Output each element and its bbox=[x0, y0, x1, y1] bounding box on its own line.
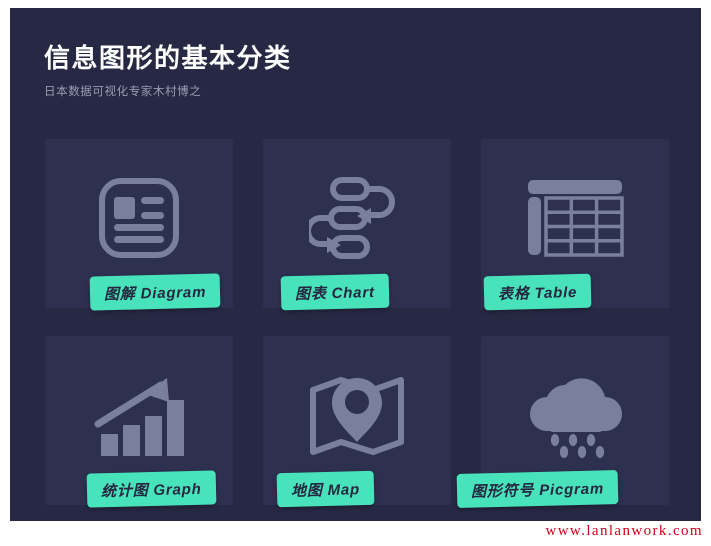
card-label-text: 图表 Chart bbox=[295, 281, 375, 304]
flowchart-icon bbox=[263, 163, 451, 273]
card-label-banner: 图解 Diagram bbox=[90, 273, 221, 310]
map-pin-icon bbox=[263, 360, 451, 470]
category-card-grid: 图解 Diagram bbox=[45, 139, 670, 505]
category-card-table[interactable]: 表格 Table bbox=[481, 139, 669, 308]
category-card-picgram[interactable]: 图形符号 Picgram bbox=[481, 336, 669, 505]
watermark-url: www.lanlanwork.com bbox=[545, 523, 703, 540]
card-label-banner: 统计图 Graph bbox=[87, 470, 216, 507]
page-title: 信息图形的基本分类 bbox=[44, 44, 604, 74]
watermark-strip: www.lanlanwork.com bbox=[0, 521, 711, 546]
card-label-banner: 地图 Map bbox=[277, 471, 375, 507]
diagram-layout-icon bbox=[45, 163, 233, 273]
slide-header: 信息图形的基本分类 日本数据可视化专家木村博之 bbox=[44, 44, 604, 99]
card-label-text: 地图 Map bbox=[291, 478, 360, 501]
card-label-text: 统计图 Graph bbox=[101, 477, 202, 500]
table-grid-icon bbox=[481, 163, 669, 273]
page-subtitle: 日本数据可视化专家木村博之 bbox=[44, 83, 604, 99]
card-label-banner: 图表 Chart bbox=[281, 274, 390, 311]
card-label-banner: 图形符号 Picgram bbox=[457, 470, 619, 508]
category-card-diagram[interactable]: 图解 Diagram bbox=[45, 139, 233, 308]
card-label-text: 表格 Table bbox=[498, 281, 578, 304]
card-label-text: 图解 Diagram bbox=[104, 280, 207, 303]
category-card-chart[interactable]: 图表 Chart bbox=[263, 139, 451, 308]
card-label-banner: 表格 Table bbox=[484, 274, 592, 311]
category-card-map[interactable]: 地图 Map bbox=[263, 336, 451, 505]
rain-cloud-icon bbox=[481, 360, 669, 470]
card-label-text: 图形符号 Picgram bbox=[471, 477, 604, 501]
slide-frame: 信息图形的基本分类 日本数据可视化专家木村博之 bbox=[0, 0, 711, 546]
slide-canvas: 信息图形的基本分类 日本数据可视化专家木村博之 bbox=[10, 8, 701, 521]
bar-chart-arrow-icon bbox=[45, 360, 233, 470]
category-card-graph[interactable]: 统计图 Graph bbox=[45, 336, 233, 505]
